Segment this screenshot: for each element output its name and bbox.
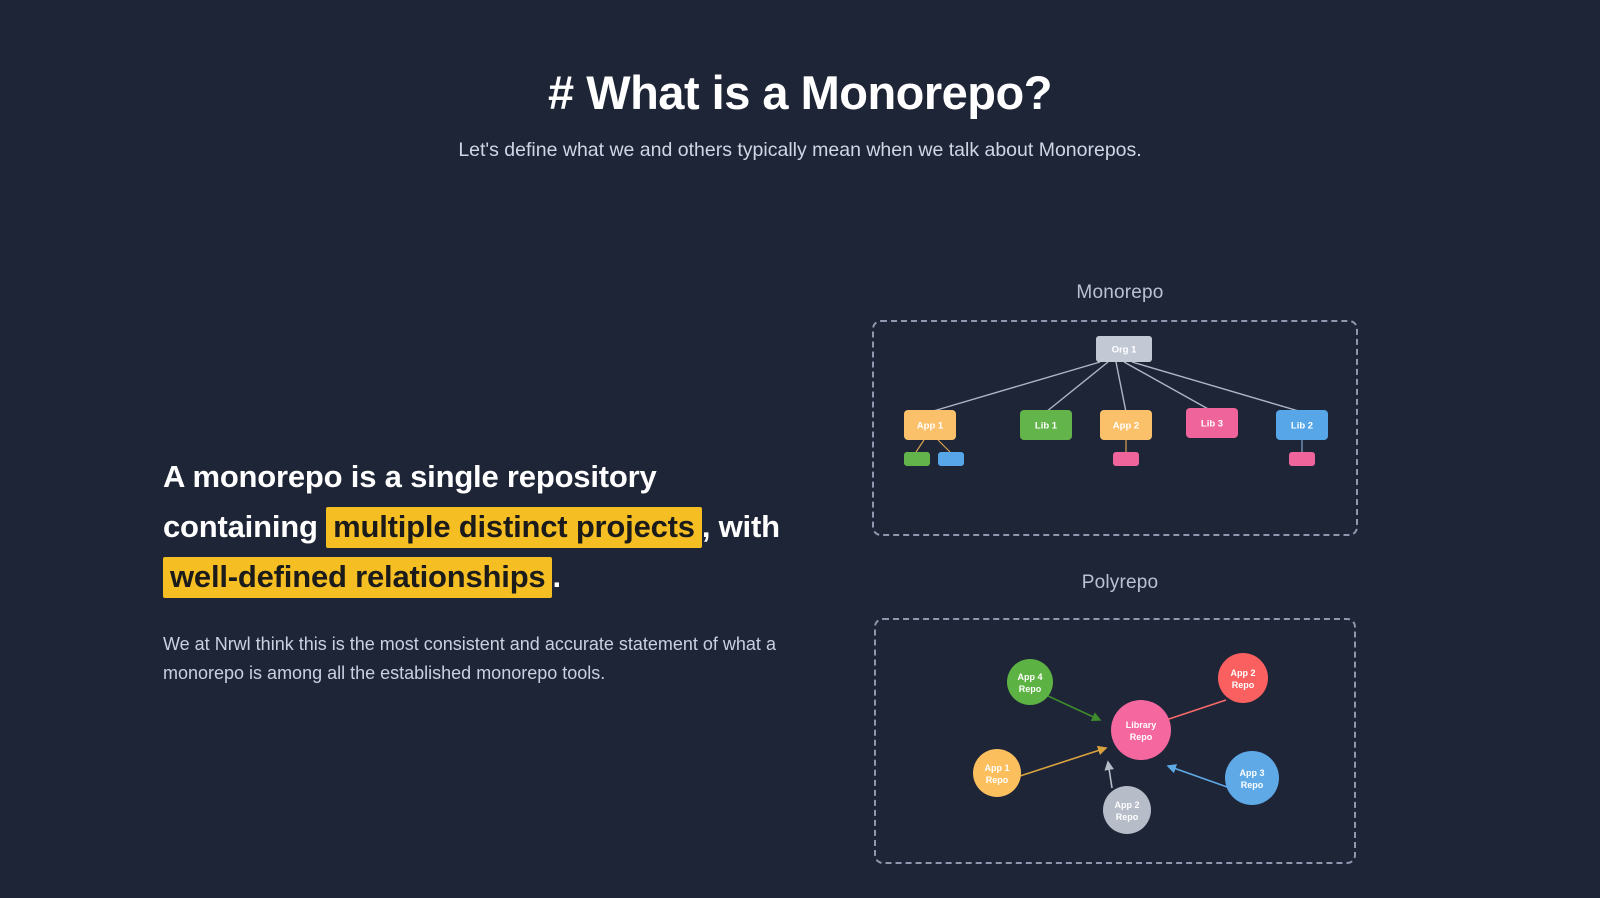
monorepo-node-lib-2[interactable]: Lib 2	[1276, 410, 1328, 440]
polyrepo-node-app-2-repo-red-label-line2: Repo	[1232, 680, 1255, 690]
polyrepo-node-app-3-repo[interactable]: App 3 Repo	[1225, 751, 1279, 805]
monorepo-leaf-edges	[916, 440, 1302, 454]
diagrams-svg: Org 1 App 1 Lib 1 App 2 Lib 3 Lib	[860, 276, 1380, 876]
lead-text-part-2: , with	[702, 509, 780, 544]
lead-statement: A monorepo is a single repository contai…	[163, 452, 783, 603]
page-title: # What is a Monorepo?	[0, 66, 1600, 120]
polyrepo-edge-app2-to-library	[1160, 700, 1226, 722]
lead-text-part-3: .	[552, 559, 560, 594]
monorepo-leaf-lib-2-pink[interactable]	[1289, 452, 1315, 466]
monorepo-node-lib-2-label: Lib 2	[1291, 421, 1313, 432]
monorepo-leaf-app-1-blue[interactable]	[938, 452, 964, 466]
polyrepo-node-app-2-repo-red-label-line1: App 2	[1230, 668, 1255, 678]
monorepo-node-app-2-label: App 2	[1113, 421, 1139, 432]
body-paragraph: We at Nrwl think this is the most consis…	[163, 630, 778, 688]
polyrepo-node-app-1-repo[interactable]: App 1 Repo	[973, 749, 1021, 797]
polyrepo-node-app-4-repo-label-line2: Repo	[1019, 684, 1042, 694]
lead-highlight-1: multiple distinct projects	[326, 507, 702, 548]
polyrepo-node-app-2-repo-gray-label-line2: Repo	[1116, 812, 1139, 822]
polyrepo-node-app-1-repo-label-line1: App 1	[984, 763, 1009, 773]
polyrepo-edge-app2gray-to-library	[1108, 762, 1112, 788]
monorepo-node-app-2[interactable]: App 2	[1100, 410, 1152, 440]
polyrepo-node-app-3-repo-label-line2: Repo	[1241, 780, 1264, 790]
monorepo-node-lib-1[interactable]: Lib 1	[1020, 410, 1072, 440]
polyrepo-edge-app3-to-library	[1168, 766, 1230, 788]
polyrepo-edge-app1-to-library	[1020, 748, 1106, 776]
polyrepo-node-app-4-repo-label-line1: App 4	[1017, 672, 1042, 682]
polyrepo-node-app-4-repo[interactable]: App 4 Repo	[1007, 659, 1053, 705]
polyrepo-edge-app4-to-library	[1048, 696, 1100, 720]
monorepo-node-lib-3[interactable]: Lib 3	[1186, 408, 1238, 438]
monorepo-leaf-app-1-green[interactable]	[904, 452, 930, 466]
monorepo-node-org-1[interactable]: Org 1	[1096, 336, 1152, 362]
polyrepo-node-app-1-repo-label-line2: Repo	[986, 775, 1009, 785]
left-content-column: A monorepo is a single repository contai…	[163, 452, 783, 688]
monorepo-node-org-1-label: Org 1	[1112, 345, 1138, 356]
monorepo-node-app-1-label: App 1	[917, 421, 944, 432]
monorepo-node-lib-3-label: Lib 3	[1201, 419, 1223, 430]
monorepo-edges	[930, 362, 1302, 412]
lead-highlight-2: well-defined relationships	[163, 557, 552, 598]
polyrepo-node-app-2-repo-gray-label-line1: App 2	[1114, 800, 1139, 810]
monorepo-leaf-app-2-pink[interactable]	[1113, 452, 1139, 466]
monorepo-node-app-1[interactable]: App 1	[904, 410, 956, 440]
polyrepo-node-app-3-repo-label-line1: App 3	[1239, 768, 1264, 778]
polyrepo-node-app-2-repo-red[interactable]: App 2 Repo	[1218, 653, 1268, 703]
polyrepo-node-app-2-repo-gray[interactable]: App 2 Repo	[1103, 786, 1151, 834]
header: # What is a Monorepo? Let's define what …	[0, 66, 1600, 163]
polyrepo-node-library-repo-label-line2: Repo	[1130, 732, 1153, 742]
page-subtitle: Let's define what we and others typicall…	[0, 138, 1600, 163]
slide-root: # What is a Monorepo? Let's define what …	[0, 0, 1600, 898]
monorepo-node-lib-1-label: Lib 1	[1035, 421, 1058, 432]
polyrepo-node-library-repo[interactable]: Library Repo	[1111, 700, 1171, 760]
polyrepo-node-library-repo-label-line1: Library	[1126, 720, 1157, 730]
